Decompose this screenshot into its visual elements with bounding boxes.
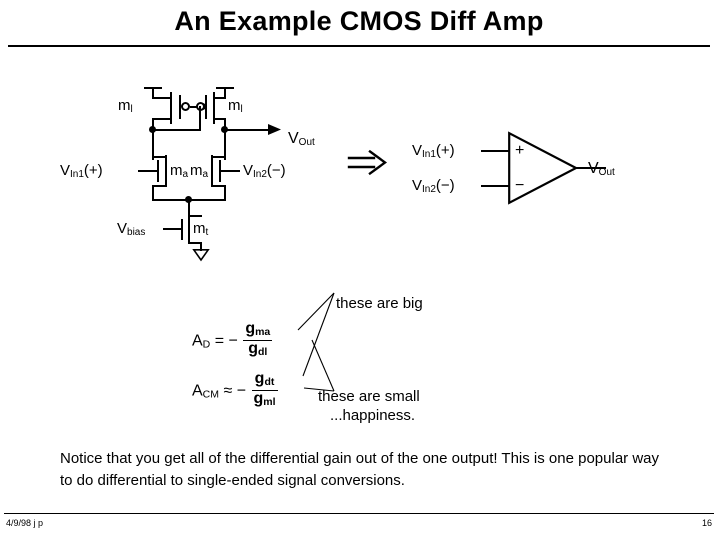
- output-label: VOut: [288, 131, 315, 150]
- opamp-input-minus-label-suffix: (−): [436, 177, 455, 194]
- load-pmos-right-label-main: m: [228, 97, 241, 114]
- diff-nmos-right-label: ma: [190, 163, 208, 182]
- output-wire: [226, 129, 272, 131]
- diff-nmos-left-drain-stub: [152, 156, 166, 158]
- eq-ad-lhs-sub: D: [203, 339, 211, 351]
- input1-label-sub: In1: [70, 169, 84, 180]
- eq-acm-den-main: g: [254, 390, 264, 407]
- eq-acm-numerator: gdt: [252, 371, 278, 390]
- annotation-happiness: ...happiness.: [330, 406, 415, 425]
- equation-common-mode-gain: ACM ≈ − gdt gml: [192, 372, 279, 411]
- diff-nmos-right-label-sub: a: [203, 169, 209, 180]
- footer-page-number: 16: [702, 518, 712, 528]
- opamp-input-plus-label: VIn1(+): [412, 143, 455, 162]
- eq-ad-denominator: gdl: [243, 340, 272, 360]
- input2-label: VIn2(−): [243, 163, 286, 182]
- opamp-plus-sign: +: [515, 143, 524, 159]
- output-label-main: V: [288, 130, 299, 147]
- double-right-arrow-icon: [348, 150, 390, 178]
- tail-nmos-drain-stub: [188, 215, 202, 217]
- diff-nmos-left-gate-lead: [138, 170, 158, 172]
- left-branch-wire: [152, 129, 154, 157]
- diff-nmos-right-source-stub: [211, 185, 225, 187]
- opamp-output-label-sub: Out: [599, 167, 615, 178]
- diff-nmos-left-label-sub: a: [183, 169, 189, 180]
- equation-differential-gain: AD = − gma gdl: [192, 322, 273, 361]
- load-pmos-left-drain-stub: [152, 97, 172, 99]
- input1-label-suffix: (+): [84, 162, 103, 179]
- tail-nmos-label-main: m: [193, 220, 206, 237]
- diff-nmos-right-drain-stub: [211, 156, 225, 158]
- footer-divider: [4, 513, 714, 514]
- bias-label-sub: bias: [127, 227, 145, 238]
- diff-nmos-right-gate-lead: [220, 170, 240, 172]
- eq-ad-num-main: g: [245, 320, 255, 337]
- diff-nmos-left-channel: [165, 155, 167, 187]
- input2-label-suffix: (−): [267, 162, 286, 179]
- annotation-these-are-small: these are small: [318, 387, 420, 406]
- annotation-these-are-big: these are big: [336, 294, 423, 313]
- mirror-diode-connect-vertical: [199, 106, 201, 131]
- opamp-input-minus-label-main: V: [412, 177, 422, 194]
- load-pmos-left-label-sub: l: [131, 104, 133, 115]
- opamp-input-plus-label-suffix: (+): [436, 142, 455, 159]
- diff-nmos-left-drain-lead: [152, 156, 154, 160]
- load-pmos-left-label: ml: [118, 98, 133, 117]
- opamp-input-plus-wire: [481, 150, 509, 152]
- load-pmos-left-label-main: m: [118, 97, 131, 114]
- mirror-diode-connect-horizontal: [152, 129, 201, 131]
- diff-nmos-left-label: ma: [170, 163, 188, 182]
- eq-acm-relation: ≈: [223, 383, 232, 400]
- diff-nmos-right-channel: [211, 155, 213, 187]
- load-pmos-right-label: ml: [228, 98, 243, 117]
- input2-label-sub: In2: [253, 169, 267, 180]
- opamp-input-minus-wire: [481, 185, 509, 187]
- bias-label: Vbias: [117, 221, 145, 240]
- input1-label: VIn1(+): [60, 163, 103, 182]
- output-label-sub: Out: [299, 137, 315, 148]
- load-pmos-left-source-stub: [152, 118, 172, 120]
- opamp-output-label: VOut: [588, 161, 615, 180]
- tail-nmos-channel: [188, 214, 190, 244]
- tail-nmos-gate-lead: [163, 228, 182, 230]
- ground-triangle-icon: [193, 249, 209, 261]
- load-pmos-right-gate-bar: [205, 95, 207, 119]
- diff-nmos-right-drain-lead: [224, 156, 226, 160]
- eq-ad-den-main: g: [248, 340, 258, 357]
- eq-acm-num-main: g: [255, 370, 265, 387]
- footer-date: 4/9/98 j p: [6, 518, 43, 528]
- eq-ad-fraction: gma gdl: [243, 321, 272, 360]
- eq-ad-lhs: A: [192, 333, 203, 350]
- output-arrow-head: [268, 123, 284, 137]
- opamp-input-plus-label-sub: In1: [422, 149, 436, 160]
- load-pmos-right-drain-stub: [213, 97, 226, 99]
- opamp-minus-sign: −: [515, 178, 524, 194]
- eq-acm-num-sub: dt: [264, 376, 274, 388]
- eq-ad-numerator: gma: [243, 321, 272, 340]
- eq-acm-sign: −: [237, 383, 246, 400]
- eq-acm-fraction: gdt gml: [252, 371, 278, 410]
- body-paragraph: Notice that you get all of the different…: [60, 448, 660, 492]
- opamp-output-label-main: V: [588, 160, 599, 177]
- load-pmos-right-label-sub: l: [241, 104, 243, 115]
- opamp-input-minus-label-sub: In2: [422, 184, 436, 195]
- right-branch-wire: [224, 129, 226, 157]
- input1-label-main: V: [60, 162, 70, 179]
- tail-node-lead: [188, 199, 190, 215]
- eq-acm-lhs-sub: CM: [203, 389, 219, 401]
- eq-ad-num-sub: ma: [255, 326, 270, 338]
- opamp-input-minus-label: VIn2(−): [412, 178, 455, 197]
- eq-ad-den-sub: dl: [258, 346, 267, 358]
- eq-ad-relation: =: [215, 333, 224, 350]
- bias-label-main: V: [117, 220, 127, 237]
- diff-nmos-right-label-main: m: [190, 162, 203, 179]
- tail-nmos-label: mt: [193, 221, 208, 240]
- diff-nmos-left-source-stub: [152, 185, 166, 187]
- title-divider: [8, 45, 710, 47]
- slide-canvas: An Example CMOS Diff Amp ml ml: [0, 0, 718, 536]
- eq-acm-den-sub: ml: [263, 396, 275, 408]
- eq-ad-sign: −: [229, 333, 238, 350]
- tail-nmos-label-sub: t: [206, 227, 209, 238]
- page-title: An Example CMOS Diff Amp: [0, 4, 718, 38]
- opamp-input-plus-label-main: V: [412, 142, 422, 159]
- eq-acm-lhs: A: [192, 383, 203, 400]
- input2-label-main: V: [243, 162, 253, 179]
- load-pmos-left-gate-bubble: [181, 102, 190, 111]
- diff-nmos-left-label-main: m: [170, 162, 183, 179]
- eq-acm-denominator: gml: [252, 390, 278, 410]
